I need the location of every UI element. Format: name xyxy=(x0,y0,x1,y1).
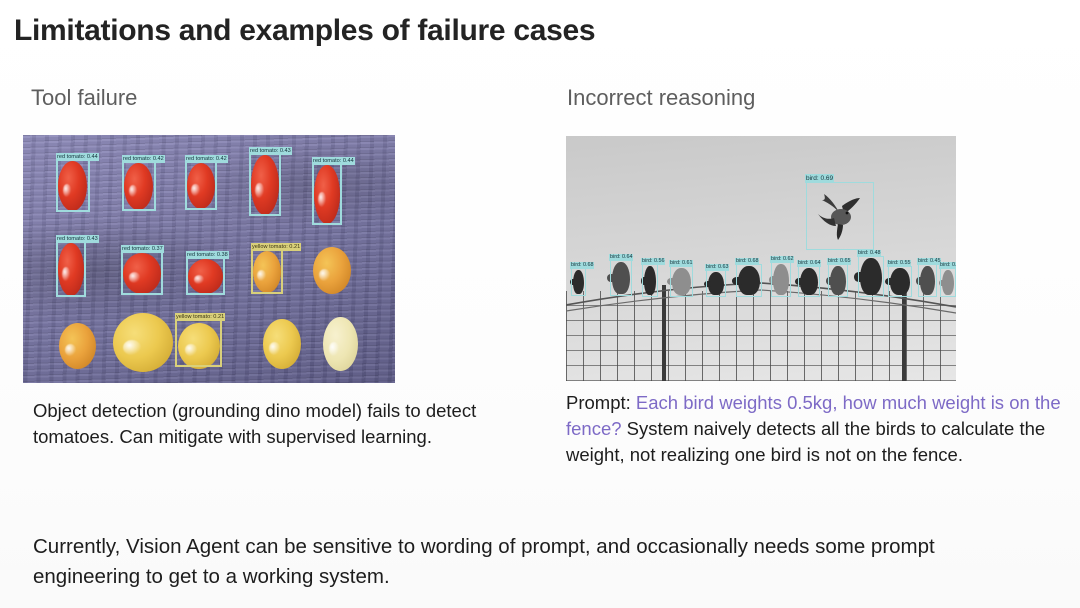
page-title: Limitations and examples of failure case… xyxy=(14,14,595,48)
detection-box: red tomato: 0.44 xyxy=(56,159,90,212)
tomato-highlight xyxy=(123,340,141,355)
detection-label: bird: 0.65 xyxy=(827,258,851,265)
detection-label: red tomato: 0.38 xyxy=(186,251,229,259)
detection-label: bird: 0.69 xyxy=(805,174,834,183)
caption-tool-failure: Object detection (grounding dino model) … xyxy=(33,398,503,450)
detection-label: bird: 0.64 xyxy=(609,254,633,261)
detection-label: bird: 0.45 xyxy=(917,258,941,265)
detection-label: yellow tomato: 0.21 xyxy=(175,313,225,321)
tomato xyxy=(59,323,96,369)
detection-label: red tomato: 0.44 xyxy=(56,153,99,161)
slide-root: Limitations and examples of failure case… xyxy=(0,0,1080,608)
tomato-highlight xyxy=(65,344,76,356)
detection-label: bird: 0.61 xyxy=(939,262,956,269)
tomato xyxy=(113,313,173,372)
detection-box: bird: 0.65 xyxy=(828,264,848,297)
tomato xyxy=(263,319,301,369)
detection-label: bird: 0.64 xyxy=(797,260,821,267)
detection-box: red tomato: 0.42 xyxy=(185,161,217,210)
detection-label: red tomato: 0.37 xyxy=(121,245,164,253)
tomato-highlight xyxy=(319,269,330,281)
detection-box: bird: 0.64 xyxy=(610,260,632,296)
detection-box: red tomato: 0.42 xyxy=(122,161,156,211)
detection-box: red tomato: 0.37 xyxy=(121,251,163,295)
detection-label: yellow tomato: 0.21 xyxy=(251,243,301,251)
bird-detection-figure: bird: 0.68bird: 0.64bird: 0.56bird: 0.61… xyxy=(566,136,956,381)
caption-left-text: Object detection (grounding dino model) … xyxy=(33,400,476,447)
detection-label: red tomato: 0.43 xyxy=(56,235,99,243)
tomato-detection-figure: red tomato: 0.44red tomato: 0.42red toma… xyxy=(23,135,395,383)
column-heading-incorrect-reasoning: Incorrect reasoning xyxy=(567,85,755,111)
detection-label: bird: 0.68 xyxy=(570,262,594,269)
detection-box: red tomato: 0.43 xyxy=(56,241,86,297)
detection-box: red tomato: 0.44 xyxy=(312,163,342,225)
detection-box: bird: 0.48 xyxy=(858,256,884,297)
prompt-label: Prompt: xyxy=(566,392,636,413)
tomato-highlight xyxy=(269,342,280,355)
fence xyxy=(566,291,956,381)
detection-box: red tomato: 0.38 xyxy=(186,257,225,295)
bottom-note: Currently, Vision Agent can be sensitive… xyxy=(33,532,1043,592)
detection-label: bird: 0.48 xyxy=(857,250,881,257)
detection-box: bird: 0.55 xyxy=(888,266,912,297)
caption-right-rest: System naively detects all the birds to … xyxy=(566,418,1045,465)
detection-label: bird: 0.56 xyxy=(641,258,665,265)
caption-incorrect-reasoning: Prompt: Each bird weights 0.5kg, how muc… xyxy=(566,390,1066,468)
detection-label: red tomato: 0.42 xyxy=(185,155,228,163)
detection-label: bird: 0.68 xyxy=(735,258,759,265)
detection-label: bird: 0.62 xyxy=(770,256,794,263)
detection-label: bird: 0.55 xyxy=(887,260,911,267)
detection-label: bird: 0.63 xyxy=(705,264,729,271)
column-heading-tool-failure: Tool failure xyxy=(31,85,137,111)
detection-box: bird: 0.61 xyxy=(670,266,693,297)
detection-box: bird: 0.45 xyxy=(918,264,937,297)
tomato xyxy=(313,247,351,294)
detection-box: bird: 0.61 xyxy=(940,268,956,297)
detection-label: red tomato: 0.44 xyxy=(312,157,355,165)
tomato xyxy=(323,317,358,371)
detection-box: bird: 0.62 xyxy=(771,262,791,297)
detection-label: bird: 0.61 xyxy=(669,260,693,267)
detection-box: yellow tomato: 0.21 xyxy=(175,319,222,367)
detection-box: bird: 0.68 xyxy=(736,264,762,297)
tomato-highlight xyxy=(329,342,340,356)
detection-box: bird: 0.56 xyxy=(642,264,658,297)
detection-box: bird: 0.64 xyxy=(798,266,820,297)
detection-box: bird: 0.63 xyxy=(706,270,726,297)
detection-box: yellow tomato: 0.21 xyxy=(251,249,283,294)
detection-label: red tomato: 0.42 xyxy=(122,155,165,163)
detection-label: red tomato: 0.43 xyxy=(249,147,292,155)
detection-box: red tomato: 0.43 xyxy=(249,153,281,216)
detection-box: bird: 0.68 xyxy=(571,268,586,296)
detection-box-flying-bird: bird: 0.69 xyxy=(806,182,874,250)
